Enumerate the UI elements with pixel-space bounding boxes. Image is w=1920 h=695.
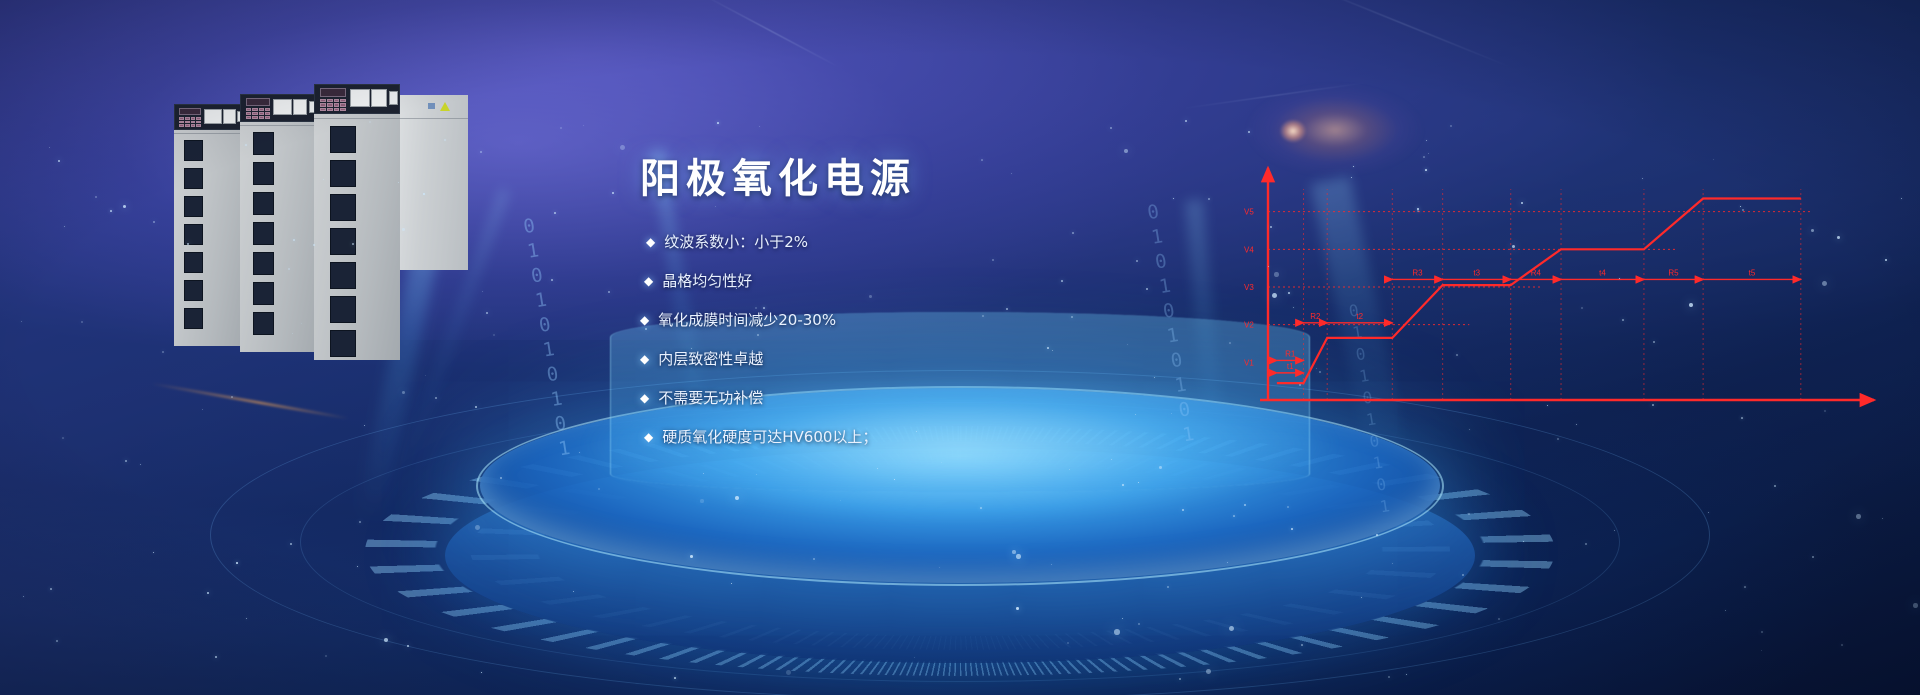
particle <box>1159 466 1162 469</box>
svg-text:R2: R2 <box>1310 312 1321 321</box>
particle <box>475 406 477 408</box>
particle <box>1138 482 1139 483</box>
particle <box>1138 623 1140 625</box>
keypad-key[interactable] <box>334 99 340 102</box>
cabinet-left-vent <box>184 224 203 245</box>
particle <box>435 397 437 399</box>
particle <box>81 321 83 323</box>
keypad-key[interactable] <box>191 124 196 127</box>
particle <box>1392 563 1393 564</box>
diamond-bullet-icon: ◆ <box>640 388 649 408</box>
chart-segment-markers: R2t2R3t3R4t4R5t5t1R1 <box>1277 268 1801 372</box>
light-streak-2 <box>1298 0 1512 68</box>
particle <box>246 618 247 619</box>
keypad-key[interactable] <box>252 116 257 119</box>
particle <box>290 543 292 545</box>
particle <box>1012 550 1016 554</box>
particle <box>1498 618 1500 620</box>
particle <box>1111 459 1112 460</box>
particle <box>1051 564 1052 565</box>
keypad-key[interactable] <box>259 112 264 115</box>
keypad-key[interactable] <box>320 108 326 111</box>
particle <box>1016 554 1021 559</box>
svg-text:V2: V2 <box>1244 321 1254 330</box>
particle <box>140 464 141 465</box>
cabinet-left-plate-2 <box>223 109 236 124</box>
particle <box>1124 149 1128 153</box>
particle <box>554 212 556 214</box>
cabinet-left-lcd <box>179 108 201 115</box>
svg-text:t2: t2 <box>1356 312 1363 321</box>
particle <box>1179 678 1181 680</box>
particle <box>402 391 405 394</box>
keypad-key[interactable] <box>196 121 201 124</box>
particle <box>786 670 791 675</box>
particle <box>1376 534 1378 536</box>
particle <box>364 425 365 426</box>
particle <box>1185 120 1187 122</box>
power-supply-cabinets <box>168 82 498 382</box>
cabinet-left-vent <box>184 252 203 273</box>
diamond-bullet-icon: ◆ <box>640 349 649 369</box>
cabinet-right <box>314 84 400 360</box>
particle <box>1708 512 1709 513</box>
particle <box>573 591 574 592</box>
cabinet-right-plate <box>350 89 370 107</box>
particle <box>598 488 600 490</box>
cabinet-right-keypad <box>320 99 346 111</box>
list-item: ◆ 晶格均匀性好 <box>644 271 1110 291</box>
particle <box>1913 603 1918 608</box>
keypad-key[interactable] <box>252 108 257 111</box>
particle <box>1248 131 1250 133</box>
particle <box>1744 586 1746 588</box>
particle <box>481 672 482 673</box>
keypad-key[interactable] <box>327 103 333 106</box>
particle <box>1523 541 1524 542</box>
cabinet-right-vent <box>330 262 356 289</box>
particle <box>123 205 126 208</box>
list-item: ◆ 硬质氧化硬度可达HV600以上； <box>644 427 1110 447</box>
cabinet-left-vent <box>184 280 203 301</box>
keypad-key[interactable] <box>259 108 264 111</box>
light-streak-4 <box>151 383 348 420</box>
particle <box>1114 629 1120 635</box>
cabinet-badge <box>428 103 435 109</box>
particle <box>236 562 238 564</box>
particle <box>215 656 217 658</box>
cabinet-middle-vent <box>253 162 274 185</box>
particle <box>1173 198 1174 199</box>
particle <box>731 583 732 584</box>
keypad-key[interactable] <box>340 108 346 111</box>
keypad-key[interactable] <box>252 112 257 115</box>
cabinet-left-vent <box>184 196 203 217</box>
voltage-staircase-chart: V1V2V3V4V5 R2t2R3t3R4t4R5t5t1R1 <box>1240 160 1880 440</box>
particle <box>1291 528 1293 530</box>
diamond-bullet-icon: ◆ <box>640 310 649 330</box>
list-item-label: 纹波系数小：小于2% <box>664 232 808 252</box>
cabinet-right-vent <box>330 296 356 323</box>
chart-axes <box>1260 168 1874 400</box>
particle <box>1182 509 1184 511</box>
particle <box>1761 650 1762 651</box>
cabinet-right-vent <box>330 228 356 255</box>
particle <box>1882 518 1883 519</box>
cabinet-middle-lcd <box>246 98 270 106</box>
hazard-sticker <box>440 102 450 111</box>
keypad-key[interactable] <box>320 103 326 106</box>
diamond-bullet-icon: ◆ <box>644 271 653 291</box>
keypad-key[interactable] <box>265 116 270 119</box>
svg-text:V4: V4 <box>1244 245 1254 254</box>
particle <box>1229 342 1231 344</box>
list-item-label: 氧化成膜时间减少20-30% <box>658 310 836 330</box>
keypad-key[interactable] <box>191 117 196 120</box>
particle <box>1146 288 1148 290</box>
particle <box>50 588 52 590</box>
particle <box>612 192 614 194</box>
keypad-key[interactable] <box>185 117 190 120</box>
particle <box>1388 676 1390 678</box>
cabinet-middle-vent <box>253 192 274 215</box>
particle <box>62 437 64 439</box>
particle <box>1244 504 1246 506</box>
keypad-key[interactable] <box>191 121 196 124</box>
particle <box>56 640 58 642</box>
particle <box>1067 642 1069 644</box>
keypad-key[interactable] <box>265 112 270 115</box>
page-title: 阳极氧化电源 <box>640 146 916 204</box>
list-item: ◆ 氧化成膜时间减少20-30% <box>640 310 1110 330</box>
particle <box>1167 586 1169 588</box>
lens-flare-core <box>1276 116 1310 146</box>
particle <box>1725 610 1726 611</box>
cabinet-left-vent <box>184 308 203 329</box>
particle <box>1406 674 1407 675</box>
particle <box>1856 514 1861 519</box>
particle <box>1901 198 1902 199</box>
particle <box>407 645 409 647</box>
list-item-label: 内层致密性卓越 <box>658 349 763 369</box>
particle <box>1885 259 1887 261</box>
list-item: ◆ 不需要无功补偿 <box>640 388 1110 408</box>
list-item: ◆ 内层致密性卓越 <box>640 349 1110 369</box>
cabinet-middle-vent <box>253 222 274 245</box>
particle <box>1122 484 1124 486</box>
particle <box>49 147 50 148</box>
particle <box>1614 530 1615 531</box>
keypad-key[interactable] <box>327 108 333 111</box>
chart-series-line <box>1277 199 1801 384</box>
diamond-bullet-icon: ◆ <box>646 232 655 252</box>
cabinet-middle-plate <box>273 99 292 115</box>
cabinet-left-vent <box>184 140 203 161</box>
cabinet-left-vent <box>184 168 203 189</box>
list-item-label: 不需要无功补偿 <box>658 388 763 408</box>
list-item-label: 硬质氧化硬度可达HV600以上； <box>662 427 877 447</box>
particle <box>1069 469 1070 470</box>
feature-list: ◆ 纹波系数小：小于2% ◆ 晶格均匀性好 ◆ 氧化成膜时间减少20-30% ◆… <box>640 232 1110 466</box>
cabinet-middle-vent <box>253 252 274 275</box>
particle <box>1171 413 1172 414</box>
particle <box>1301 644 1303 646</box>
keypad-key[interactable] <box>246 108 251 111</box>
svg-text:t5: t5 <box>1749 268 1756 277</box>
particle <box>877 468 878 469</box>
particle <box>1154 377 1155 378</box>
particle <box>1136 260 1138 262</box>
cabinet-left-keypad <box>179 117 201 127</box>
keypad-key[interactable] <box>196 124 201 127</box>
cabinet-right-vent <box>330 330 356 357</box>
svg-text:R3: R3 <box>1412 268 1423 277</box>
cabinet-right-plate-2 <box>371 89 387 107</box>
particle <box>359 521 361 523</box>
particle <box>21 321 22 322</box>
list-item: ◆ 纹波系数小：小于2% <box>646 232 1110 252</box>
particle <box>207 592 209 594</box>
particle <box>125 460 127 462</box>
particle <box>1233 515 1235 517</box>
particle <box>1774 485 1776 487</box>
keypad-key[interactable] <box>320 99 326 102</box>
keypad-key[interactable] <box>196 117 201 120</box>
keypad-key[interactable] <box>334 108 340 111</box>
particle <box>756 474 757 475</box>
keypad-key[interactable] <box>246 116 251 119</box>
particle <box>202 409 203 410</box>
particle <box>64 226 65 227</box>
particle <box>583 125 584 126</box>
particle <box>1227 562 1228 563</box>
cabinet-left-seam <box>174 133 246 134</box>
svg-text:t4: t4 <box>1599 268 1606 277</box>
particle <box>735 496 739 500</box>
keypad-key[interactable] <box>265 108 270 111</box>
keypad-key[interactable] <box>327 99 333 102</box>
particle <box>325 655 327 657</box>
cabinet-right-meter <box>389 91 398 105</box>
particle <box>357 566 358 567</box>
keypad-key[interactable] <box>185 124 190 127</box>
particle <box>1428 153 1429 154</box>
svg-text:R1: R1 <box>1285 349 1296 358</box>
particle <box>1585 543 1587 545</box>
particle <box>95 196 97 198</box>
particle <box>1127 344 1128 345</box>
particle <box>110 210 112 212</box>
product-banner: 0101010101 0101010101 0101010101 <box>0 0 1920 695</box>
chart-svg: V1V2V3V4V5 R2t2R3t3R4t4R5t5t1R1 <box>1240 160 1880 440</box>
cabinet-right-seam <box>314 118 468 119</box>
particle <box>58 160 60 162</box>
particle <box>1462 574 1464 576</box>
cabinet-middle-vent <box>253 282 274 305</box>
particle <box>475 525 480 530</box>
particle <box>1016 607 1019 610</box>
cabinet-middle-seam <box>240 125 320 126</box>
list-item-label: 晶格均匀性好 <box>662 271 752 291</box>
particle <box>153 552 154 553</box>
particle <box>1761 631 1763 633</box>
cabinet-middle-keypad <box>246 108 270 119</box>
podium-ring-dashes-2 <box>470 450 1450 650</box>
chart-tick-labels: V1V2V3V4V5 <box>1244 208 1254 368</box>
particle <box>1110 127 1112 129</box>
cabinet-middle-vent <box>253 132 274 155</box>
particle <box>608 291 610 293</box>
svg-text:V3: V3 <box>1244 283 1254 292</box>
chart-gridlines <box>1268 189 1813 400</box>
particle <box>914 657 915 658</box>
particle <box>981 159 983 161</box>
particle <box>1426 140 1427 141</box>
cabinet-right-vent <box>330 194 356 221</box>
cabinet-left-plate <box>204 109 222 124</box>
cabinet-right-vent <box>330 126 356 153</box>
particle <box>1135 414 1136 415</box>
particle <box>1287 506 1289 508</box>
particle <box>384 638 388 642</box>
keypad-key[interactable] <box>334 103 340 106</box>
particle <box>1229 626 1234 631</box>
particle <box>1206 669 1211 674</box>
particle <box>759 126 760 127</box>
particle <box>560 127 562 129</box>
particle <box>162 351 164 353</box>
particle <box>1812 556 1814 558</box>
svg-text:V1: V1 <box>1244 358 1254 367</box>
svg-text:t3: t3 <box>1473 268 1480 277</box>
particle <box>1011 173 1012 174</box>
cabinet-right-vent <box>330 160 356 187</box>
binary-decor-2: 0101010101 <box>1141 200 1202 450</box>
keypad-key[interactable] <box>179 124 184 127</box>
particle <box>840 500 841 501</box>
keypad-key[interactable] <box>340 99 346 102</box>
particle <box>579 452 580 453</box>
particle <box>1361 597 1362 598</box>
keypad-key[interactable] <box>179 117 184 120</box>
particle <box>153 221 155 223</box>
particle <box>894 479 895 480</box>
particle <box>980 507 982 509</box>
cabinet-middle <box>240 94 320 352</box>
particle <box>715 206 716 207</box>
particle <box>700 499 704 503</box>
keypad-key[interactable] <box>185 121 190 124</box>
light-streak-1 <box>699 0 841 68</box>
svg-text:t1: t1 <box>1287 362 1294 371</box>
particle <box>1841 644 1843 646</box>
keypad-key[interactable] <box>259 116 264 119</box>
particle <box>231 396 233 398</box>
particle <box>1450 125 1452 127</box>
cabinet-middle-plate-2 <box>293 99 307 115</box>
cabinet-middle-vent <box>253 312 274 335</box>
light-beam-4 <box>1185 199 1229 499</box>
podium-disc-lower <box>445 448 1475 663</box>
svg-text:V5: V5 <box>1244 208 1254 217</box>
keypad-key[interactable] <box>340 103 346 106</box>
cabinet-right-side-face <box>398 95 468 270</box>
svg-text:R5: R5 <box>1668 268 1679 277</box>
particle <box>1122 618 1123 619</box>
particle <box>674 677 676 679</box>
particle <box>23 596 24 597</box>
particle <box>1208 198 1210 200</box>
cabinet-right-lcd <box>320 88 346 97</box>
keypad-key[interactable] <box>179 121 184 124</box>
particle <box>500 477 502 479</box>
svg-text:R4: R4 <box>1531 268 1542 277</box>
keypad-key[interactable] <box>246 112 251 115</box>
binary-decor-1: 0101010101 <box>517 214 578 464</box>
light-streak-3 <box>1181 82 1369 109</box>
particle <box>813 558 815 560</box>
particle <box>703 473 704 474</box>
diamond-bullet-icon: ◆ <box>644 427 653 447</box>
particle <box>1423 156 1425 158</box>
particle <box>939 567 940 568</box>
particle <box>717 122 719 124</box>
particle <box>690 555 693 558</box>
particle <box>620 145 625 150</box>
particle <box>551 279 553 281</box>
particle <box>1468 513 1470 515</box>
